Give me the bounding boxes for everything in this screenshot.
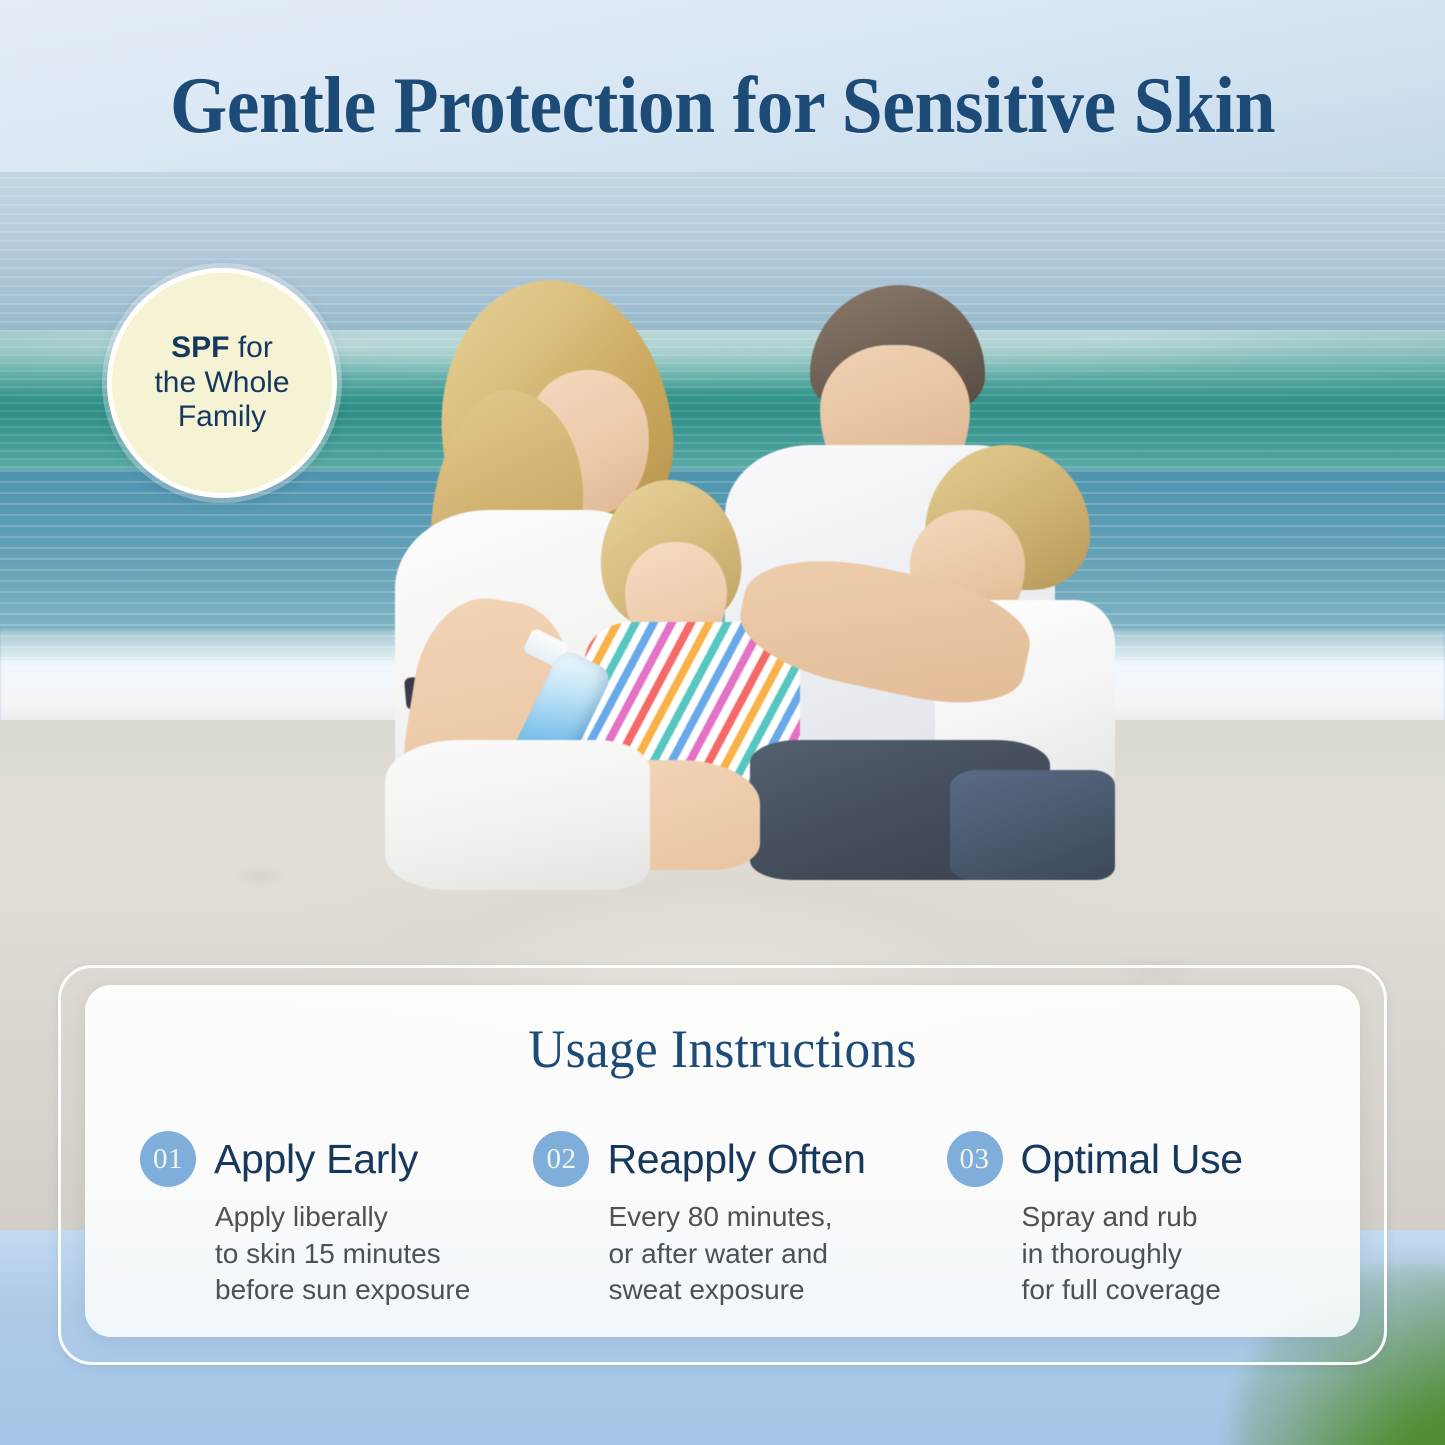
usage-step-03: 03 Optimal Use Spray and rub in thorough…	[947, 1128, 1340, 1318]
usage-step-01: 01 Apply Early Apply liberally to skin 1…	[140, 1128, 533, 1318]
step-number-badge-03: 03	[947, 1131, 1003, 1187]
step-number-badge-01: 01	[140, 1131, 196, 1187]
usage-instructions-title: Usage Instructions	[36, 1018, 1409, 1080]
son-shorts	[950, 770, 1115, 880]
mother-skirt	[385, 740, 650, 890]
spf-badge-line1-bold: SPF	[171, 331, 229, 364]
spf-badge: SPF for the Whole Family	[107, 268, 337, 498]
step-body-01: Apply liberally to skin 15 minutes befor…	[215, 1199, 533, 1309]
step-title-02: Reapply Often	[607, 1136, 865, 1183]
spf-badge-line3: Family	[178, 400, 266, 433]
step-number-badge-02: 02	[533, 1131, 589, 1187]
usage-step-02: 02 Reapply Often Every 80 minutes, or af…	[533, 1128, 946, 1318]
usage-step-03-head: 03 Optimal Use	[947, 1128, 1340, 1190]
step-body-02: Every 80 minutes, or after water and swe…	[608, 1199, 946, 1309]
spf-badge-text: SPF for the Whole Family	[136, 331, 307, 435]
spf-badge-line1-rest: for	[229, 331, 272, 364]
step-title-03: Optimal Use	[1021, 1136, 1243, 1183]
usage-step-02-head: 02 Reapply Often	[533, 1128, 946, 1190]
page-title: Gentle Protection for Sensitive Skin	[58, 66, 1387, 146]
step-body-03: Spray and rub in thoroughly for full cov…	[1022, 1199, 1340, 1309]
family-photo-group	[380, 270, 1080, 870]
step-title-01: Apply Early	[214, 1136, 418, 1183]
spf-badge-line2: the Whole	[154, 366, 289, 399]
usage-step-01-head: 01 Apply Early	[140, 1128, 533, 1190]
infographic-canvas: Gentle Protection for Sensitive Skin SPF…	[0, 0, 1445, 1445]
usage-steps-list: 01 Apply Early Apply liberally to skin 1…	[140, 1128, 1340, 1318]
